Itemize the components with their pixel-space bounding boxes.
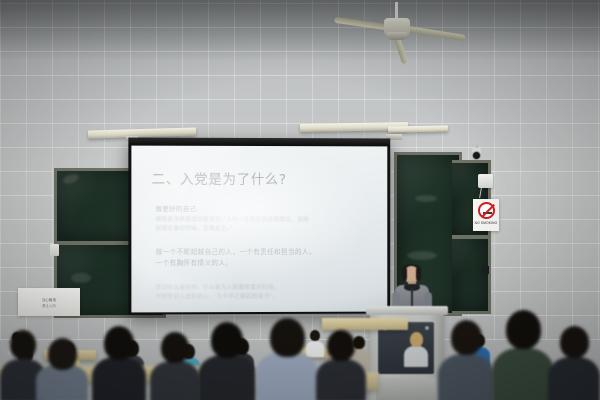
audience-member — [438, 320, 494, 400]
audience-member-torso — [92, 357, 146, 400]
ceiling-shadow — [0, 0, 600, 60]
audience-member-head — [270, 318, 305, 357]
audience-member-head — [10, 330, 36, 359]
podium-screw — [425, 326, 429, 330]
audience-member-head — [506, 310, 541, 349]
chalk-smudge — [71, 273, 91, 283]
audience-member — [316, 330, 366, 400]
slide-paragraph-line2: 一个有胸怀有情义的人。 — [156, 258, 352, 269]
slide-quote-line1: 钢铁是怎样炼成的里说过:“人的一生都应该这样度过，当他 — [156, 216, 342, 225]
audience-member-head — [410, 332, 423, 347]
audience-member-head — [327, 330, 355, 361]
audience-member-torso — [404, 346, 428, 367]
projector-screen: 二、入党是为了什么? 做更好的自己: 钢铁是怎样炼成的里说过:“人的一生都应该这… — [128, 138, 390, 315]
wall-speaker-icon — [478, 174, 493, 188]
audience-member — [492, 310, 554, 400]
wall-socket — [50, 244, 59, 256]
slide-paragraph-line1: 做一个不断超越自己的人，一个有责任和担当的人， — [156, 247, 352, 258]
slide-footer-line2: 时刻牢记入党的初心: “为中华之崛起而读书”。 — [156, 292, 352, 302]
audience-member-head — [451, 320, 482, 355]
wall-outlet-icon — [482, 266, 489, 274]
no-smoking-icon — [478, 202, 495, 219]
ceiling-fan-icon — [338, 2, 468, 48]
fluorescent-light-icon — [388, 125, 448, 132]
audience-member — [150, 332, 200, 400]
chalk-smudge — [415, 195, 437, 202]
audience-member — [198, 322, 256, 400]
podium-surface — [366, 306, 448, 315]
slide-body: 做更好的自己: 钢铁是怎样炼成的里说过:“人的一生都应该这样度过，当他 回首往事… — [150, 204, 374, 302]
audience-member-head — [48, 338, 77, 370]
blackboard-gloss — [452, 239, 488, 311]
audience-member-head — [211, 322, 243, 358]
audience-member-torso — [316, 359, 366, 400]
desk-row — [322, 318, 408, 330]
audience-member-head — [104, 326, 134, 360]
audience-member — [404, 332, 428, 366]
audience-member — [92, 326, 146, 400]
no-smoking-label: NO SMOKING — [475, 221, 498, 225]
wall-sign-left-line2: 禁止入内 — [42, 303, 56, 308]
slide-lead-text: 做更好的自己: — [156, 204, 374, 213]
audience-member-torso — [548, 357, 600, 400]
podium-base — [376, 378, 436, 400]
wall-sign-left: 当心触电 禁止入内 — [18, 288, 80, 316]
audience-member-head — [560, 326, 589, 358]
audience-member — [36, 338, 88, 400]
no-smoking-sign: NO SMOKING — [473, 199, 499, 231]
lecture-hall-scene: 当心触电 禁止入内 NO SMOKING 二、入党是为了什么? 做更好的自己: … — [0, 0, 600, 400]
audience-member — [256, 318, 318, 400]
audience-member-head — [161, 332, 189, 363]
audience-member-torso — [492, 348, 554, 400]
slide-content: 二、入党是为了什么? 做更好的自己: 钢铁是怎样炼成的里说过:“人的一生都应该这… — [131, 146, 387, 313]
blackboard-right-lower — [452, 236, 491, 314]
screen-surface: 二、入党是为了什么? 做更好的自己: 钢铁是怎样炼成的里说过:“人的一生都应该这… — [131, 146, 387, 313]
chalk-smudge — [407, 251, 437, 260]
audience-member — [548, 326, 600, 400]
fan-blade-right — [408, 26, 466, 41]
audience-member-torso — [150, 361, 200, 400]
wall-sign-left-line1: 当心触电 — [42, 297, 56, 302]
camera-lens-icon — [473, 152, 480, 159]
audience-member-torso — [256, 352, 318, 400]
slide-quote-line2: 回首往事的时候，无悔此生。” — [156, 225, 342, 234]
presenter-hair-right — [416, 268, 421, 281]
fan-blade-left — [334, 17, 386, 30]
audience-member-torso — [198, 355, 256, 400]
audience-member-torso — [438, 354, 494, 400]
fan-hub-lower — [387, 32, 407, 40]
slide-title: 二、入党是为了什么? — [152, 168, 374, 188]
presenter-hair-left — [402, 268, 407, 281]
